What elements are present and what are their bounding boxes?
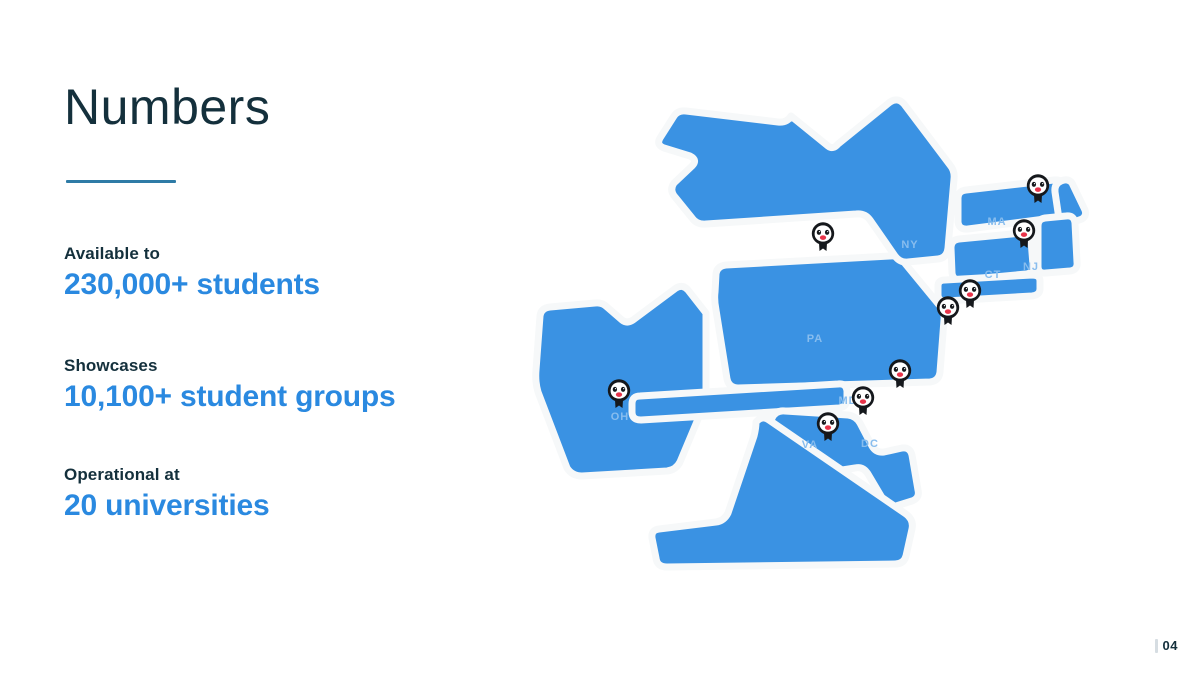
penguin-marker-oh[interactable] <box>602 375 636 411</box>
stat-value: 10,100+ student groups <box>64 380 494 414</box>
state-label-ct: CT <box>985 269 1002 281</box>
penguin-marker-nj[interactable] <box>1007 215 1041 251</box>
penguin-marker-ri[interactable] <box>931 292 965 328</box>
page-number-text: 04 <box>1163 638 1178 653</box>
stat-value: 20 universities <box>64 489 494 523</box>
state-label-ny: NY <box>901 239 918 251</box>
map-svg: NY MA CT NJ PA OH MD DC VA <box>510 70 1150 600</box>
northeast-us-map: NY MA CT NJ PA OH MD DC VA <box>510 70 1150 600</box>
stat-label: Showcases <box>64 355 494 376</box>
penguin-marker-ma[interactable] <box>1021 170 1055 206</box>
state-shape-nj[interactable] <box>1038 216 1077 273</box>
stat-value: 230,000+ students <box>64 268 494 302</box>
state-label-ma: MA <box>987 216 1006 228</box>
penguin-marker-md-south[interactable] <box>846 382 880 418</box>
penguin-marker-md-north[interactable] <box>883 355 917 391</box>
title-divider-rule <box>66 180 176 183</box>
penguin-marker-ny[interactable] <box>806 218 840 254</box>
stat-block-students: Available to 230,000+ students <box>64 243 494 302</box>
page-number-bar <box>1155 639 1158 653</box>
stat-label: Operational at <box>64 464 494 485</box>
page-number: 04 <box>1155 638 1178 653</box>
penguin-marker-va[interactable] <box>811 408 845 444</box>
stat-block-universities: Operational at 20 universities <box>64 464 494 523</box>
slide-left-column: Numbers Available to 230,000+ students S… <box>64 0 494 675</box>
stat-label: Available to <box>64 243 494 264</box>
state-label-dc: DC <box>861 438 879 450</box>
state-label-nj: NJ <box>1023 261 1039 273</box>
stat-block-student-groups: Showcases 10,100+ student groups <box>64 355 494 414</box>
state-label-pa: PA <box>807 333 823 345</box>
page-title: Numbers <box>64 82 270 132</box>
state-label-oh: OH <box>611 411 630 423</box>
